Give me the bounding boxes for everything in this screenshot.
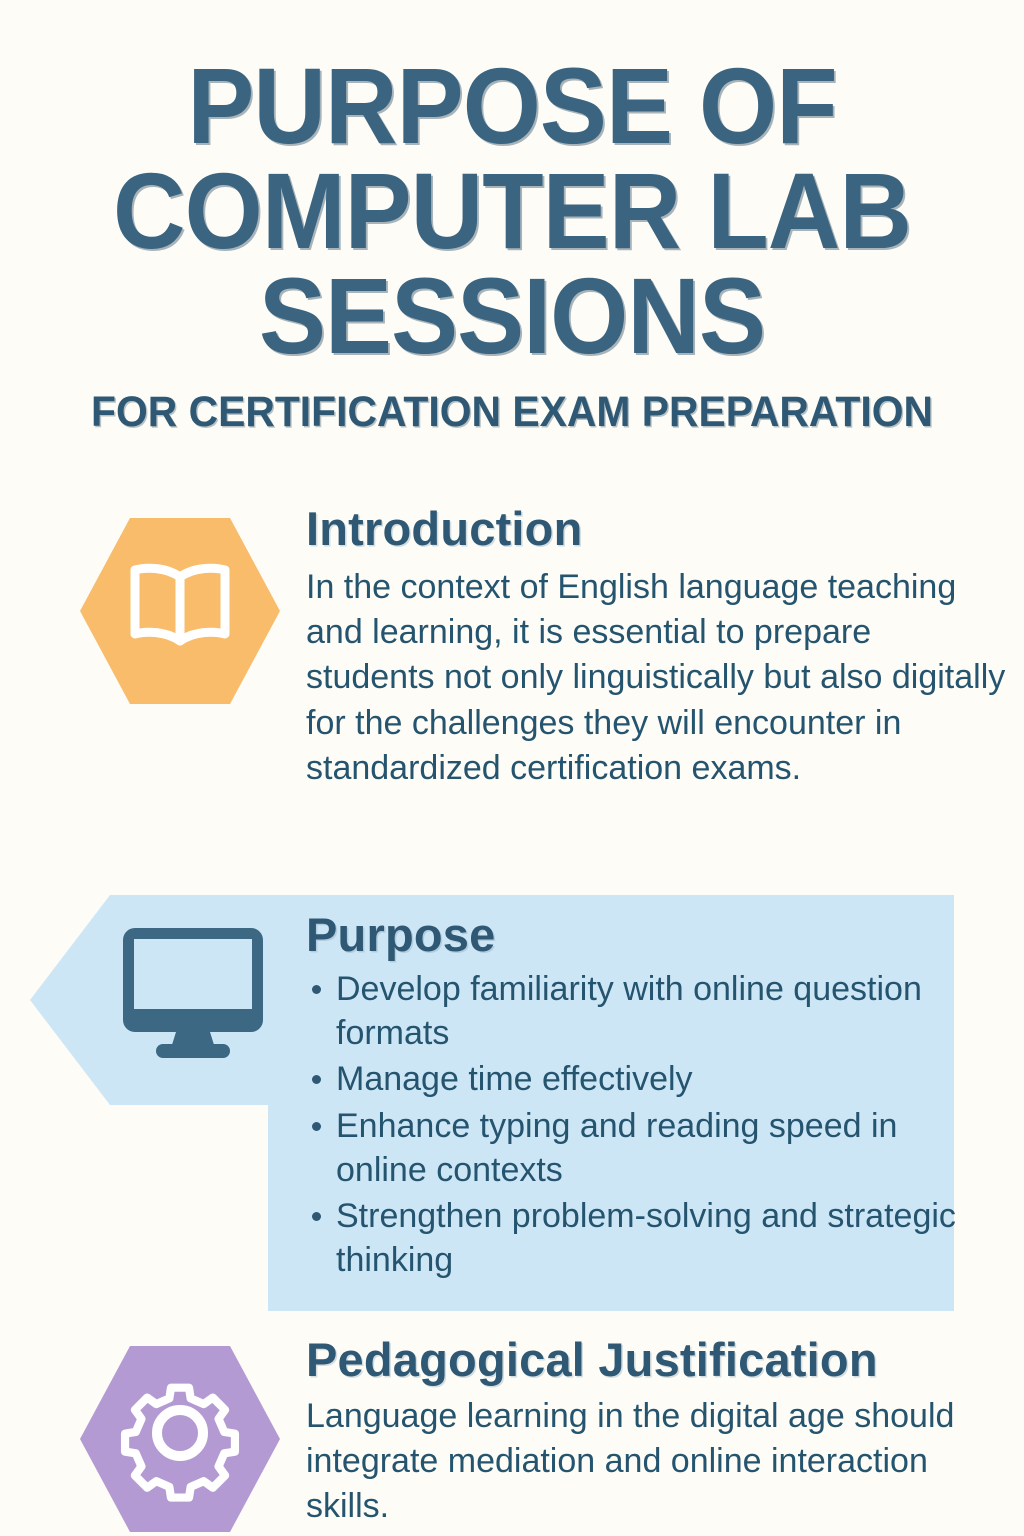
purpose-bullet-list: Develop familiarity with online question… bbox=[306, 967, 966, 1282]
infographic-poster: PURPOSE OFCOMPUTER LABSESSIONS FOR CERTI… bbox=[0, 0, 1024, 1536]
title-line-2: COMPUTER LAB bbox=[113, 150, 911, 271]
list-item: Enhance typing and reading speed in onli… bbox=[306, 1104, 966, 1192]
poster-header: PURPOSE OFCOMPUTER LABSESSIONS FOR CERTI… bbox=[0, 54, 1024, 435]
purpose-heading: Purpose bbox=[306, 911, 966, 959]
introduction-text-block: Introduction In the context of English l… bbox=[306, 505, 1006, 791]
desktop-monitor-icon bbox=[118, 920, 268, 1060]
page-title: PURPOSE OFCOMPUTER LABSESSIONS bbox=[36, 54, 988, 368]
section-purpose: Purpose Develop familiarity with online … bbox=[0, 893, 1024, 1313]
purpose-text-block: Purpose Develop familiarity with online … bbox=[306, 911, 966, 1284]
pedagogy-text-block: Pedagogical Justification Language learn… bbox=[306, 1336, 1006, 1530]
list-item: Manage time effectively bbox=[306, 1057, 966, 1101]
list-item: Develop familiarity with online question… bbox=[306, 967, 966, 1055]
open-book-icon bbox=[80, 518, 280, 704]
introduction-heading: Introduction bbox=[306, 505, 1006, 553]
section-introduction: Introduction In the context of English l… bbox=[0, 505, 1024, 875]
page-subtitle: FOR CERTIFICATION EXAM PREPARATION bbox=[26, 390, 999, 435]
title-line-3: SESSIONS bbox=[259, 255, 765, 376]
gear-icon bbox=[80, 1346, 280, 1532]
title-line-1: PURPOSE OF bbox=[187, 45, 836, 166]
introduction-body: In the context of English language teach… bbox=[306, 565, 1006, 791]
list-item: Strengthen problem-solving and strategic… bbox=[306, 1194, 966, 1282]
section-pedagogical-justification: Pedagogical Justification Language learn… bbox=[0, 1340, 1024, 1536]
purpose-icon-badge bbox=[118, 920, 268, 1060]
pedagogy-icon-badge bbox=[80, 1346, 280, 1532]
pedagogy-heading: Pedagogical Justification bbox=[306, 1336, 1006, 1384]
introduction-icon-badge bbox=[80, 518, 280, 704]
pedagogy-body: Language learning in the digital age sho… bbox=[306, 1394, 1006, 1530]
